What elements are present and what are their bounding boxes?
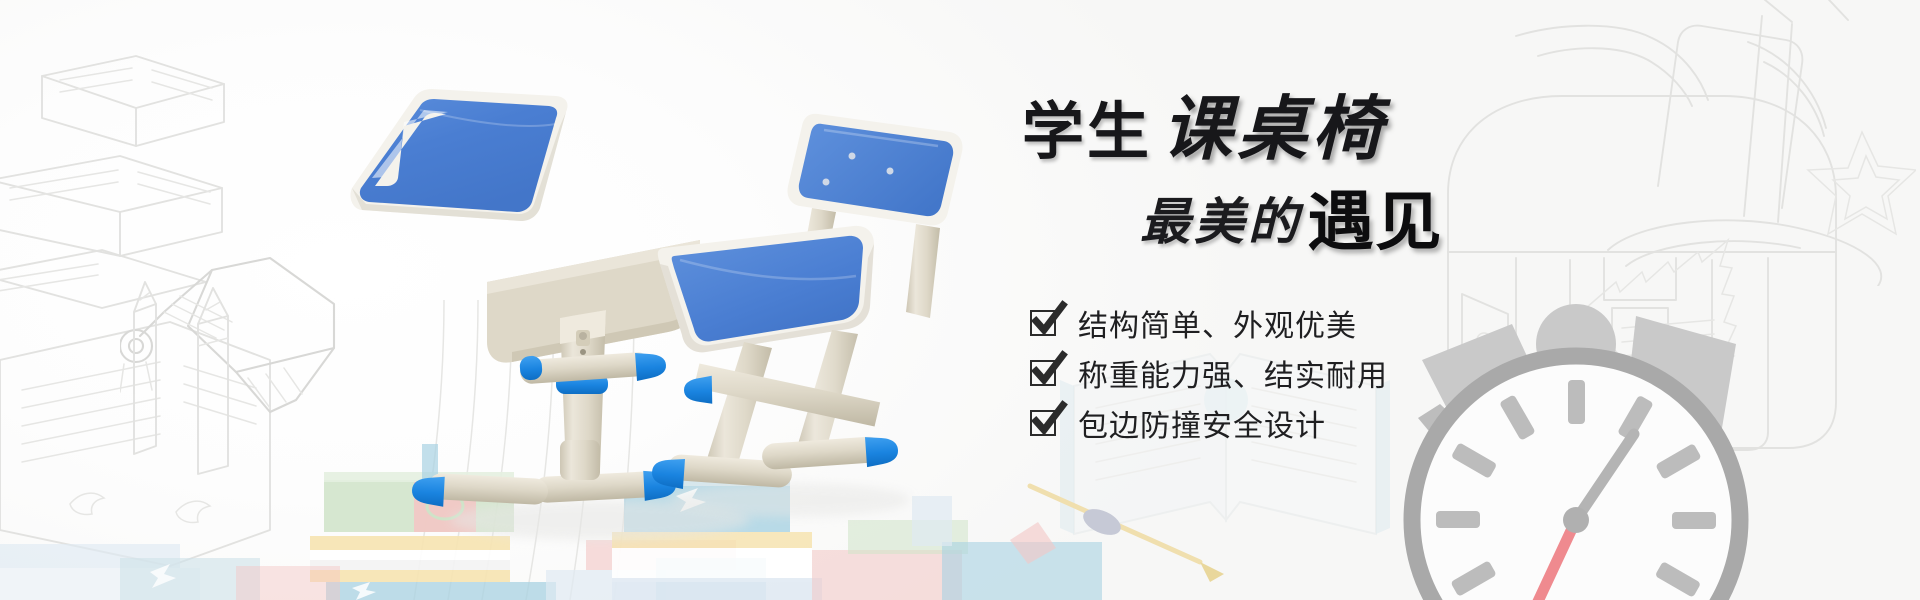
feature-item: 称重能力强、结实耐用 [1030, 348, 1388, 398]
promo-banner: 学生课桌椅 最美的 遇见 结构简单、外观优美 称重能力强、结实耐用 [0, 0, 1920, 600]
headline-block: 学生课桌椅 最美的 遇见 [1010, 96, 1530, 254]
marketing-copy: 学生课桌椅 最美的 遇见 结构简单、外观优美 称重能力强、结实耐用 [0, 0, 1920, 600]
feature-item: 结构简单、外观优美 [1030, 298, 1388, 348]
headline-brush: 课桌椅 [1162, 92, 1387, 169]
headline-sub-brush: 最美的 [1140, 182, 1302, 254]
checkbox-check-icon [1030, 408, 1060, 438]
feature-list: 结构简单、外观优美 称重能力强、结实耐用 包边防撞安全设计 [1030, 298, 1388, 448]
feature-text: 包边防撞安全设计 [1078, 401, 1326, 445]
feature-text: 称重能力强、结实耐用 [1078, 351, 1388, 395]
headline-line-1: 学生课桌椅 [1022, 96, 1530, 166]
checkbox-check-icon [1030, 308, 1060, 338]
headline-emphasis: 遇见 [1307, 193, 1442, 254]
headline-line-2: 最美的 遇见 [1140, 182, 1530, 254]
feature-item: 包边防撞安全设计 [1030, 398, 1388, 448]
feature-text: 结构简单、外观优美 [1078, 301, 1357, 345]
checkbox-check-icon [1030, 358, 1060, 388]
headline-prefix: 学生 [1022, 99, 1152, 167]
